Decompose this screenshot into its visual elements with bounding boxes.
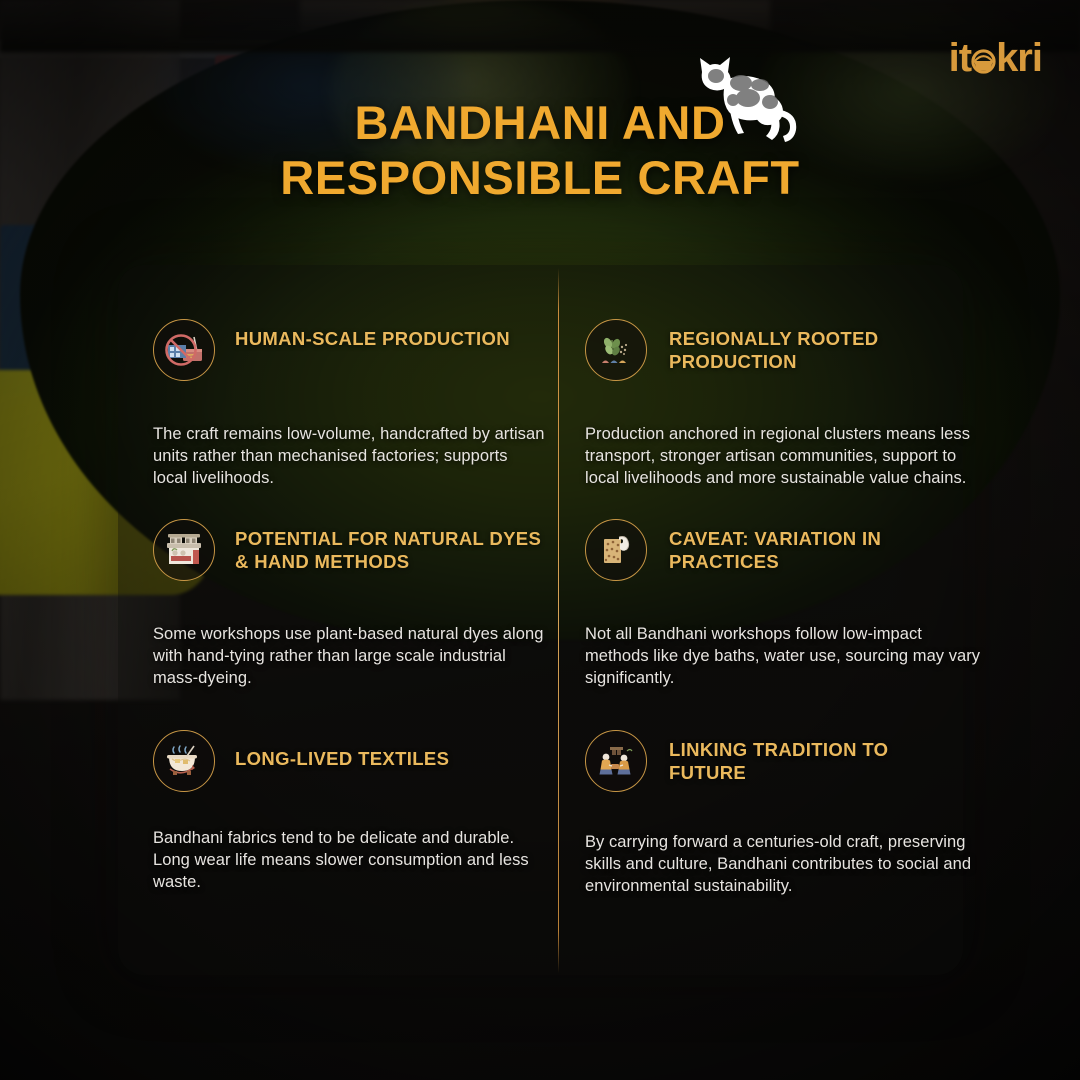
card-title: HUMAN-SCALE PRODUCTION <box>235 319 545 351</box>
card-header: HUMAN-SCALE PRODUCTION <box>153 319 545 381</box>
infographic-canvas: itkri BANDHANI AND RESPONSIBLE CRAFT <box>0 0 1080 1080</box>
cards-grid: HUMAN-SCALE PRODUCTION The craft remains… <box>0 0 1080 1080</box>
card-linking-tradition-to-future: LINKING TRADITION TO FUTURE By carrying … <box>585 730 985 898</box>
card-human-scale-production: HUMAN-SCALE PRODUCTION The craft remains… <box>153 319 545 490</box>
card-body: By carrying forward a centuries-old craf… <box>585 832 985 898</box>
card-title: LONG-LIVED TEXTILES <box>235 730 545 771</box>
card-potential-for-natural-dyes: POTENTIAL FOR NATURAL DYES & HAND METHOD… <box>153 519 545 690</box>
brand-logo[interactable]: itkri <box>949 38 1042 78</box>
card-body: Bandhani fabrics tend to be delicate and… <box>153 828 545 894</box>
steaming-dye-pot-icon <box>153 730 215 792</box>
card-header: REGIONALLY ROOTED PRODUCTION <box>585 319 985 381</box>
seedling-plants-icon <box>585 319 647 381</box>
hand-holding-fabric-icon <box>585 519 647 581</box>
card-title: POTENTIAL FOR NATURAL DYES & HAND METHOD… <box>235 519 545 573</box>
card-regionally-rooted-production: REGIONALLY ROOTED PRODUCTION Production … <box>585 319 985 490</box>
card-header: LONG-LIVED TEXTILES <box>153 730 545 792</box>
logo-text-before: it <box>949 36 971 80</box>
two-artisans-icon <box>585 730 647 792</box>
card-long-lived-textiles: LONG-LIVED TEXTILES Bandhani fabrics ten… <box>153 730 545 894</box>
no-factory-icon <box>153 319 215 381</box>
card-title: REGIONALLY ROOTED PRODUCTION <box>669 319 969 373</box>
card-header: CAVEAT: VARIATION IN PRACTICES <box>585 519 985 581</box>
card-title: CAVEAT: VARIATION IN PRACTICES <box>669 519 969 573</box>
card-header: LINKING TRADITION TO FUTURE <box>585 730 985 792</box>
logo-basket-icon <box>971 49 996 74</box>
card-caveat-variation-in-practices: CAVEAT: VARIATION IN PRACTICES Not all B… <box>585 519 985 690</box>
card-body: The craft remains low-volume, handcrafte… <box>153 424 545 490</box>
card-body: Not all Bandhani workshops follow low-im… <box>585 624 985 690</box>
card-header: POTENTIAL FOR NATURAL DYES & HAND METHOD… <box>153 519 545 581</box>
cat-illustration-icon <box>686 52 802 148</box>
card-body: Some workshops use plant-based natural d… <box>153 624 545 690</box>
workshop-building-icon <box>153 519 215 581</box>
card-title: LINKING TRADITION TO FUTURE <box>669 730 969 784</box>
logo-text-after: kri <box>996 36 1042 80</box>
card-body: Production anchored in regional clusters… <box>585 424 985 490</box>
